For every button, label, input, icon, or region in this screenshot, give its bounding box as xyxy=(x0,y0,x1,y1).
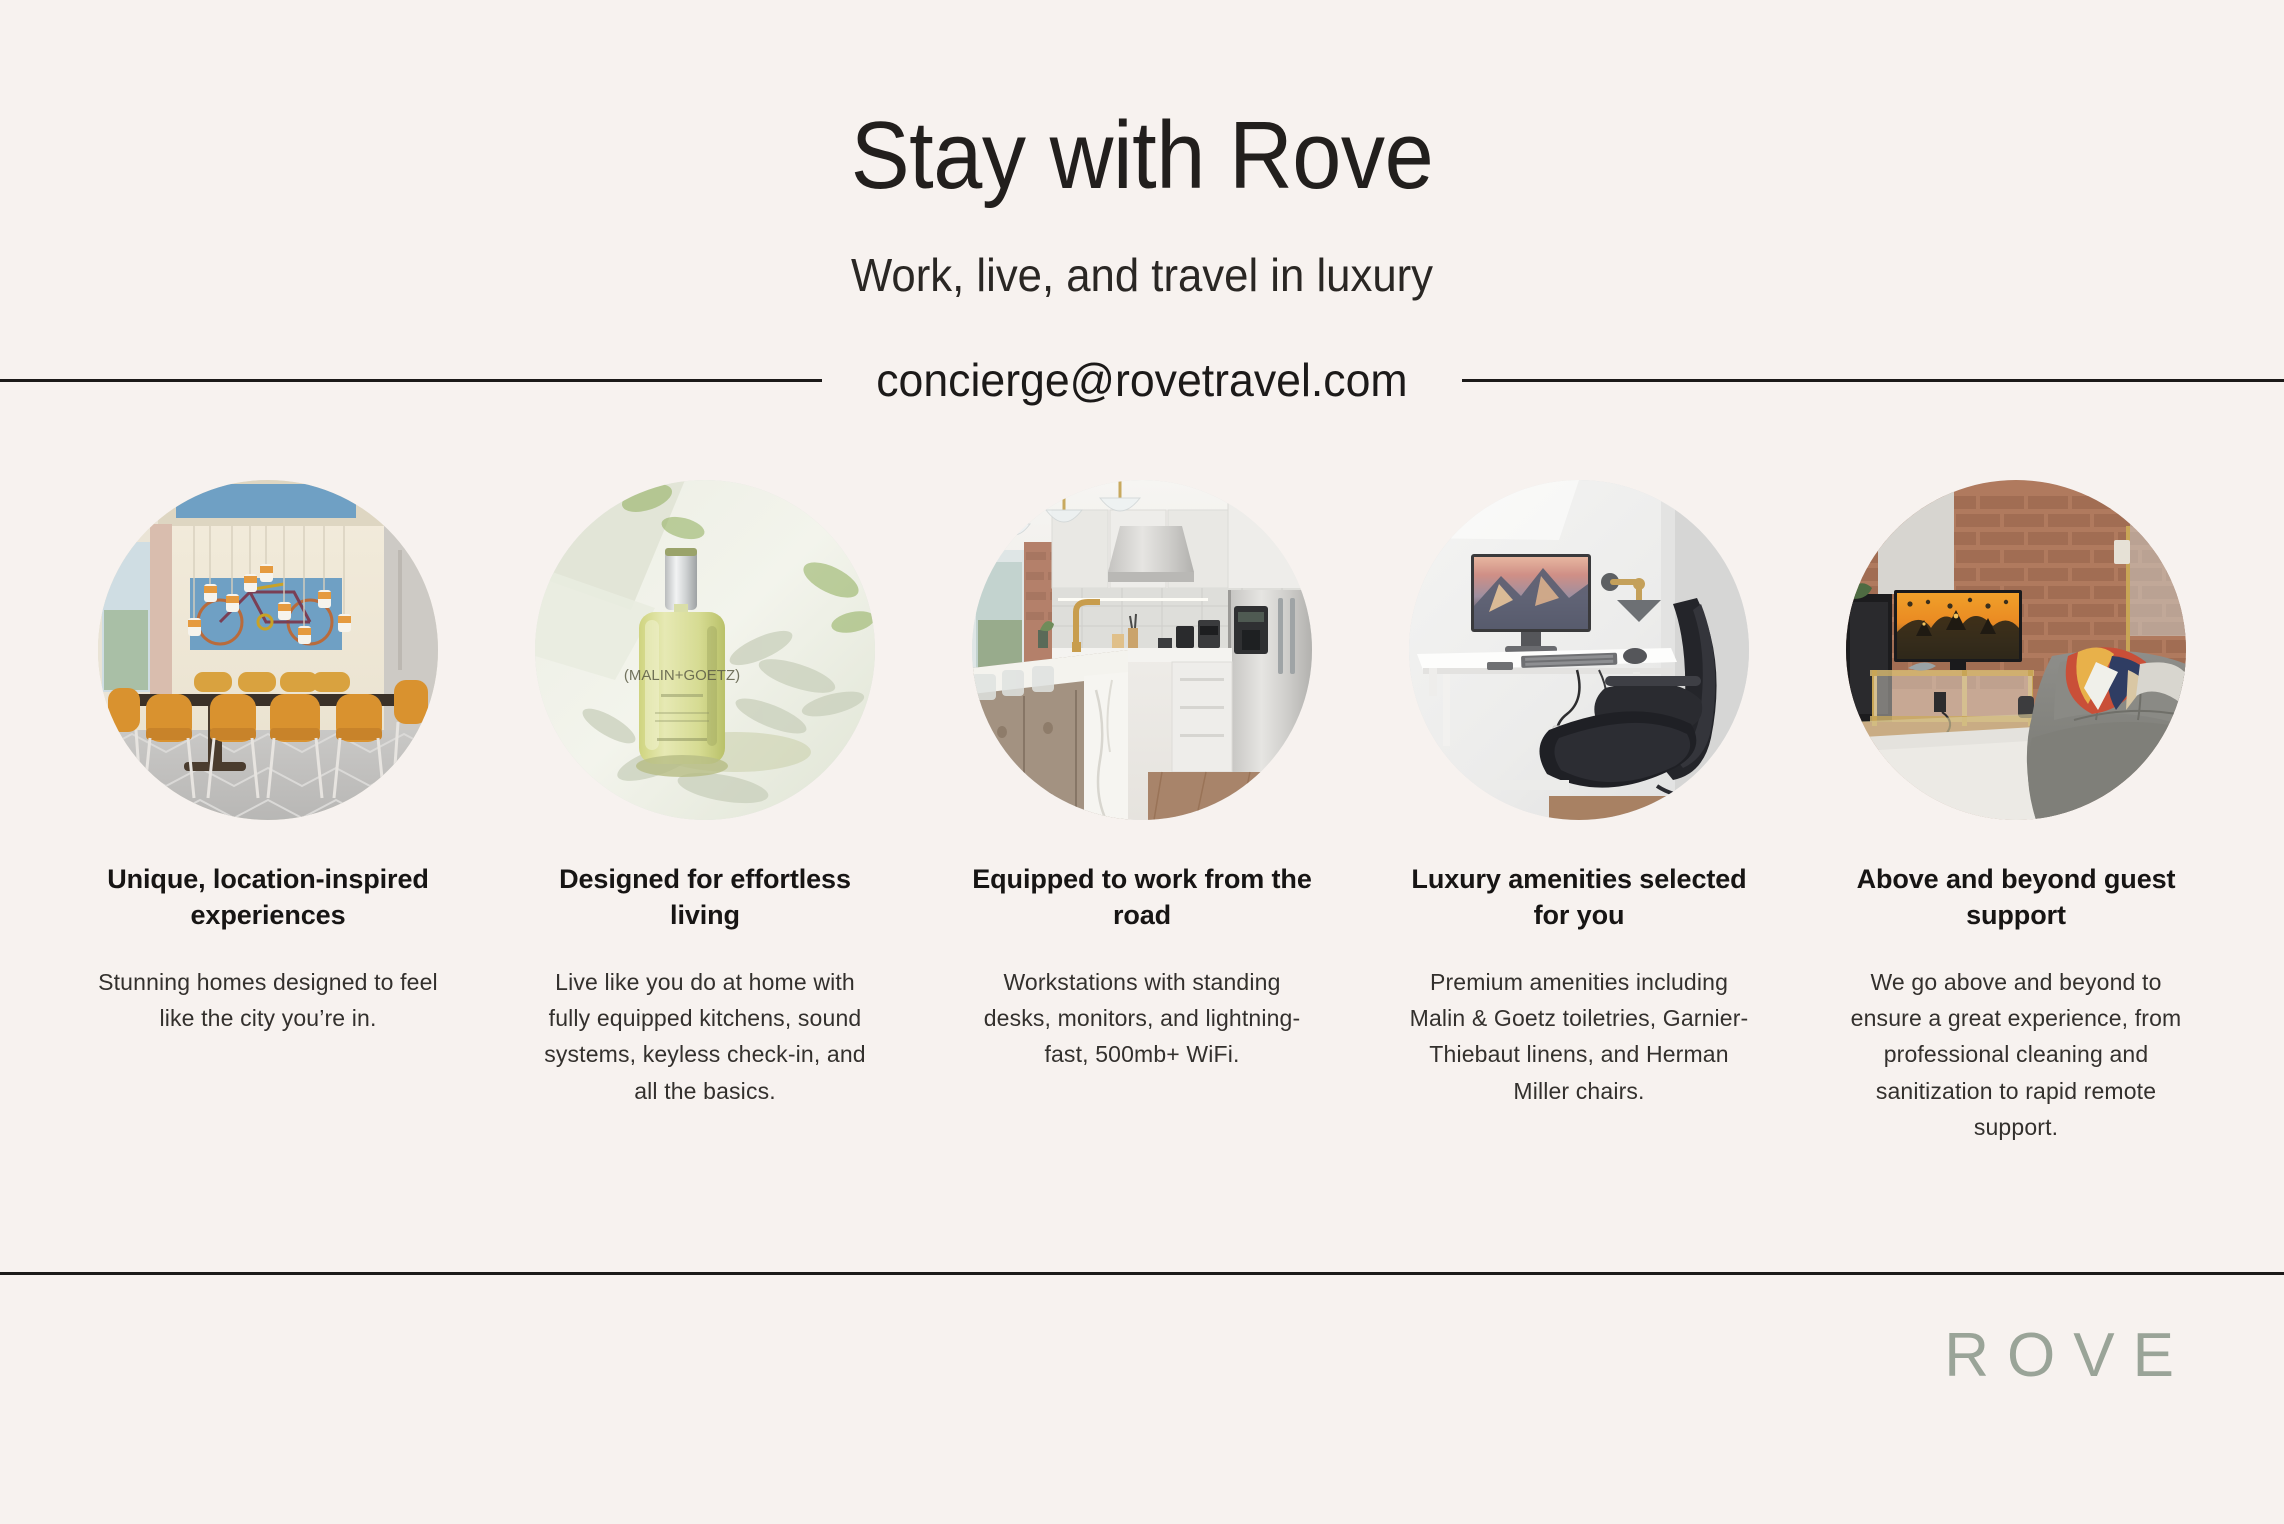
feature-body: Stunning homes designed to feel like the… xyxy=(98,964,438,1037)
feature-title: Luxury amenities selected for you xyxy=(1409,862,1749,934)
living-room-photo xyxy=(1846,480,2186,820)
email-divider-row: concierge@rovetravel.com xyxy=(0,340,2284,420)
page-title: Stay with Rove xyxy=(91,108,2192,204)
feature-grid: Unique, location-inspired experiences St… xyxy=(92,480,2192,1145)
feature-title: Designed for effortless living xyxy=(535,862,875,934)
feature-card: Equipped to work from the road Workstati… xyxy=(966,480,1318,1073)
page-subtitle: Work, live, and travel in luxury xyxy=(57,252,2227,298)
feature-card: Above and beyond guest support We go abo… xyxy=(1840,480,2192,1145)
feature-body: Workstations with standing desks, monito… xyxy=(972,964,1312,1073)
feature-card: (MALIN+GOETZ) Designed for effortless li… xyxy=(529,480,881,1109)
feature-body: Live like you do at home with fully equi… xyxy=(535,964,875,1109)
feature-title: Unique, location-inspired experiences xyxy=(98,862,438,934)
contact-email[interactable]: concierge@rovetravel.com xyxy=(832,353,1453,407)
header: Stay with Rove Work, live, and travel in… xyxy=(0,0,2284,400)
feature-title: Equipped to work from the road xyxy=(972,862,1312,934)
divider-line-left xyxy=(0,379,822,382)
kitchen-photo xyxy=(972,480,1312,820)
feature-title: Above and beyond guest support xyxy=(1846,862,2186,934)
feature-body: Premium amenities including Malin & Goet… xyxy=(1409,964,1749,1109)
workstation-photo xyxy=(1409,480,1749,820)
toiletries-photo: (MALIN+GOETZ) xyxy=(535,480,875,820)
feature-card: Unique, location-inspired experiences St… xyxy=(92,480,444,1036)
feature-card: Luxury amenities selected for you Premiu… xyxy=(1403,480,1755,1109)
feature-body: We go above and beyond to ensure a great… xyxy=(1846,964,2186,1146)
dining-room-photo xyxy=(98,480,438,820)
svg-text:(MALIN+GOETZ): (MALIN+GOETZ) xyxy=(624,667,740,684)
divider-line-right xyxy=(1462,379,2284,382)
footer: ROVE xyxy=(0,1275,2284,1524)
rove-logo: ROVE xyxy=(1944,1320,2192,1391)
